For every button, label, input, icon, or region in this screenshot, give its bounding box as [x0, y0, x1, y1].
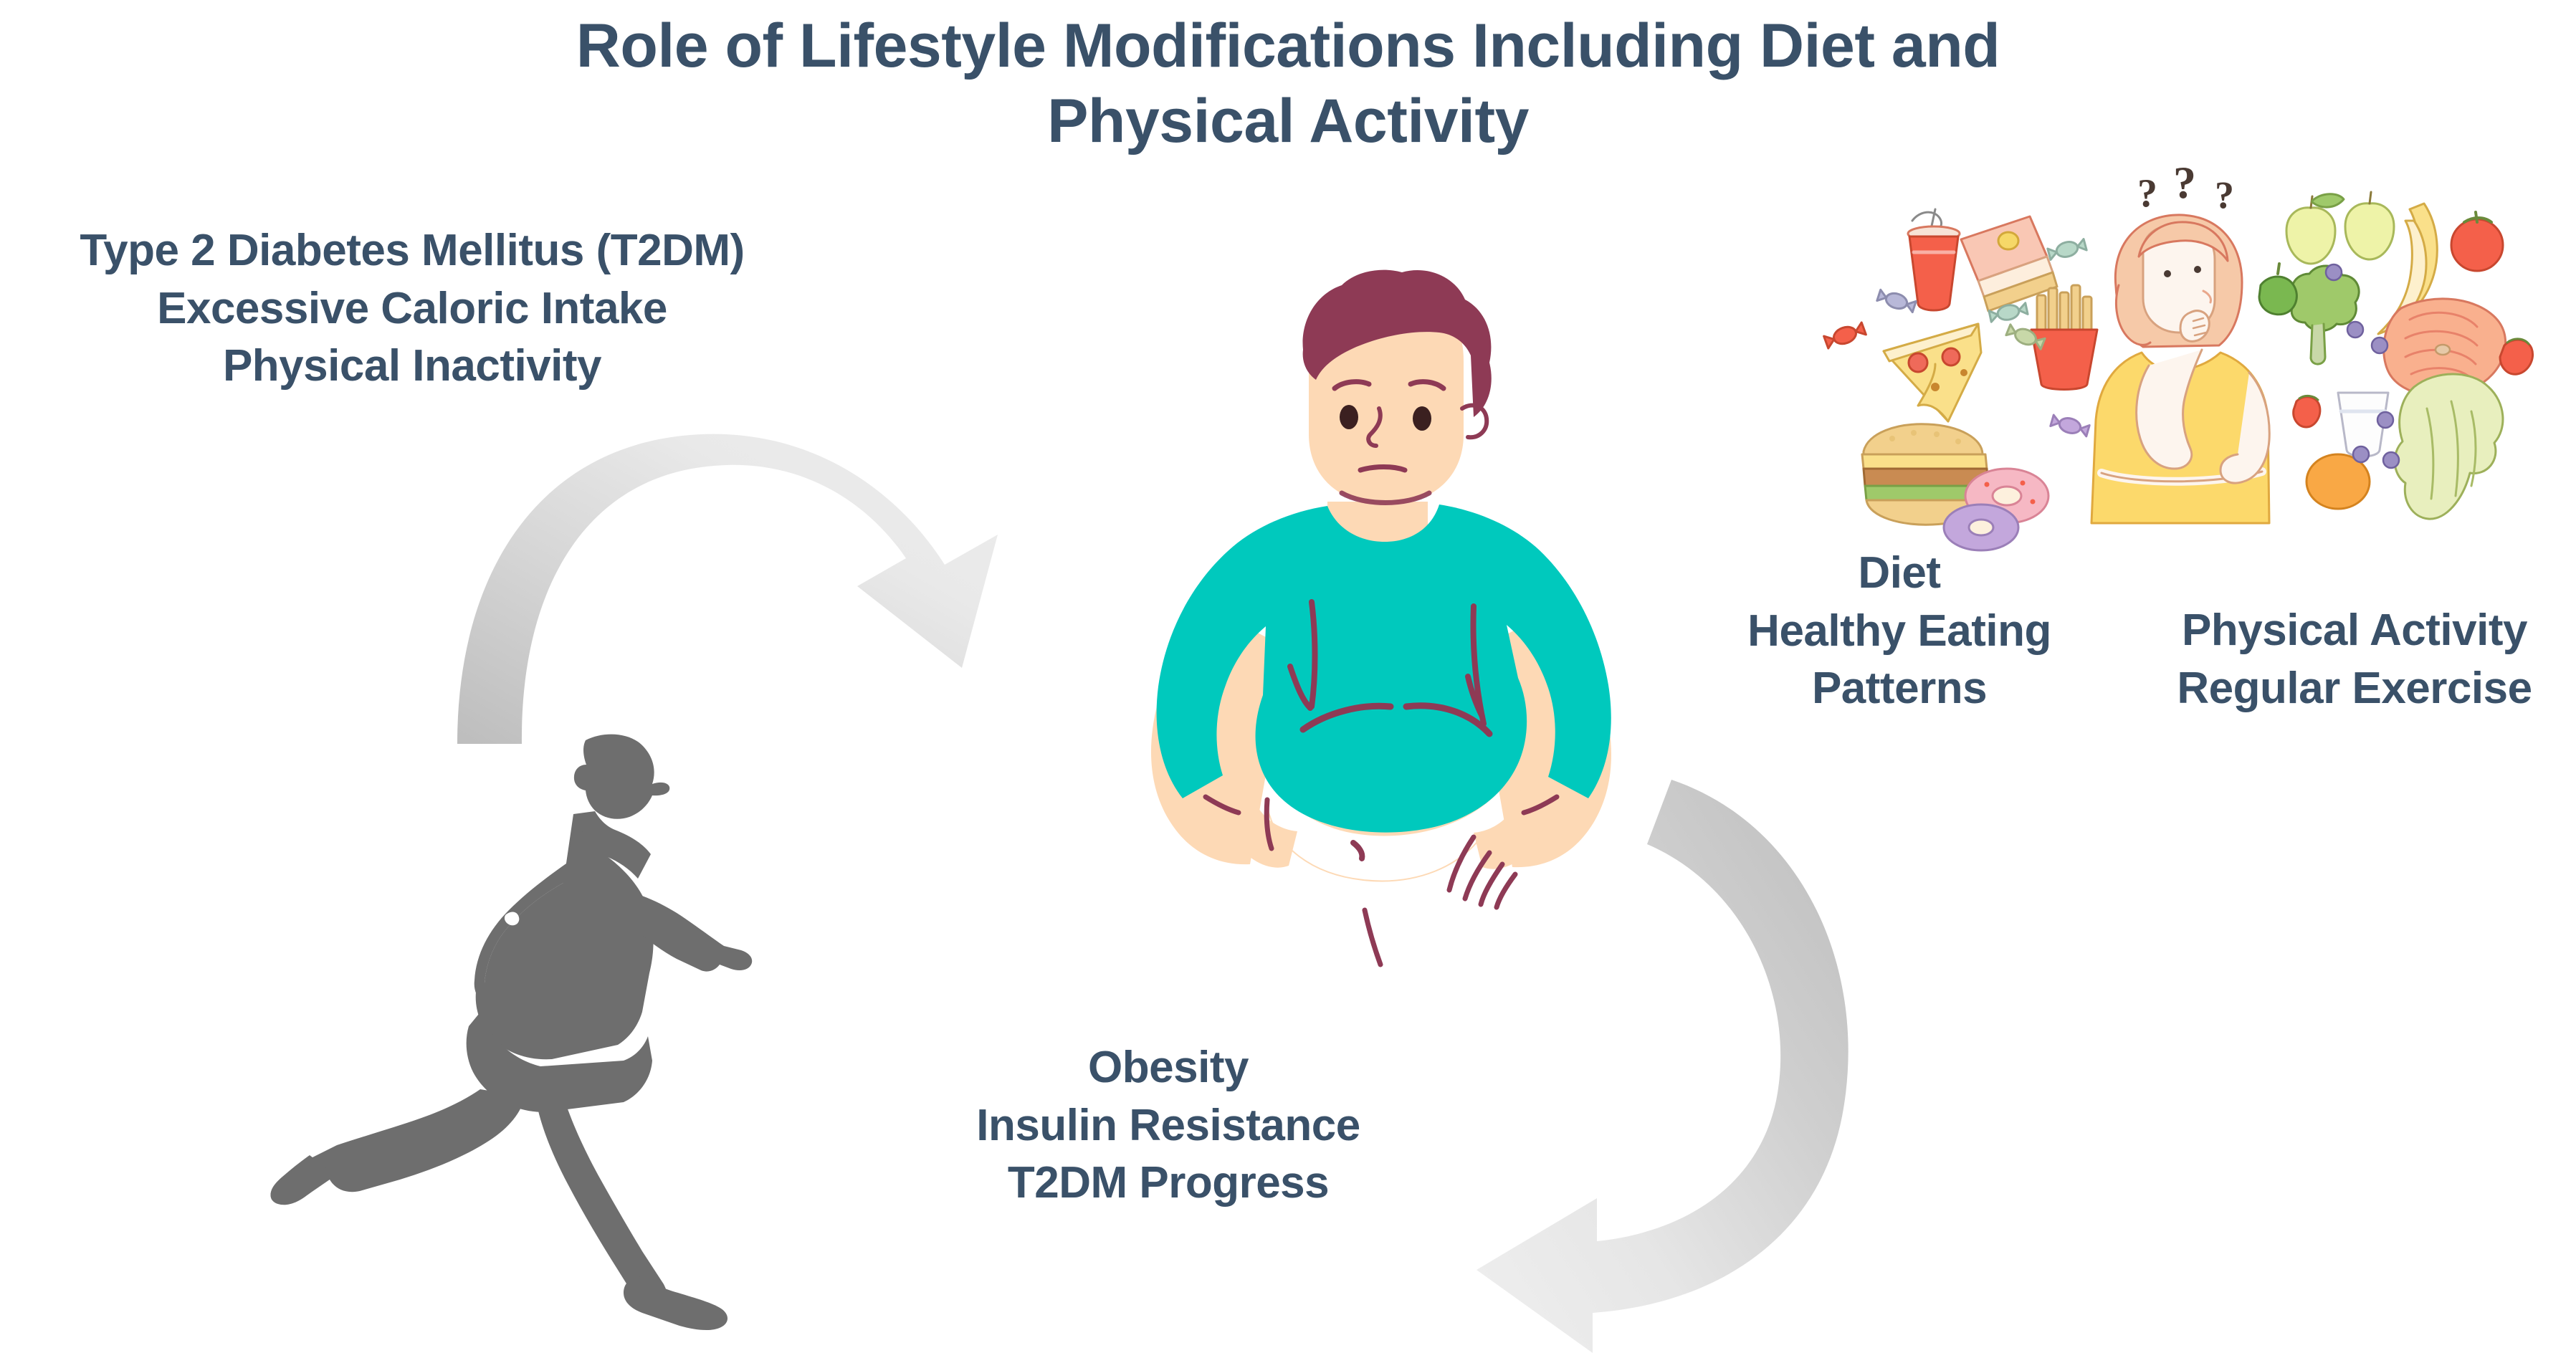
label-diet: Diet Healthy Eating Patterns — [1684, 545, 2114, 718]
vegetable-icon — [2259, 264, 2296, 315]
label-t2dm-causes: Type 2 Diabetes Mellitus (T2DM) Excessiv… — [0, 222, 831, 396]
svg-text:?: ? — [2173, 157, 2196, 208]
svg-text:?: ? — [2215, 173, 2234, 216]
french-fries-icon — [2031, 285, 2097, 390]
obese-man-illustration — [1075, 265, 1692, 975]
page-title: Role of Lifestyle Modifications Includin… — [464, 9, 2112, 159]
broccoli-icon — [2291, 266, 2359, 364]
label-physical-activity: Physical Activity Regular Exercise — [2132, 602, 2576, 717]
question-marks: ? ? ? — [2137, 157, 2234, 216]
running-person-silhouette — [237, 702, 767, 1358]
thinking-woman — [2091, 215, 2269, 523]
tomato-icon — [2451, 212, 2503, 271]
lettuce-icon — [2395, 374, 2503, 519]
svg-text:?: ? — [2137, 171, 2157, 216]
apple-icon — [2345, 192, 2394, 259]
soda-cup-icon — [1908, 209, 1960, 310]
strawberry-icon — [2500, 339, 2533, 374]
strawberry-icon — [2294, 396, 2320, 427]
pizza-slice-icon — [1884, 324, 1981, 421]
apple-icon — [2286, 194, 2344, 264]
woman-choosing-food-illustration: ? ? ? — [1828, 165, 2559, 537]
